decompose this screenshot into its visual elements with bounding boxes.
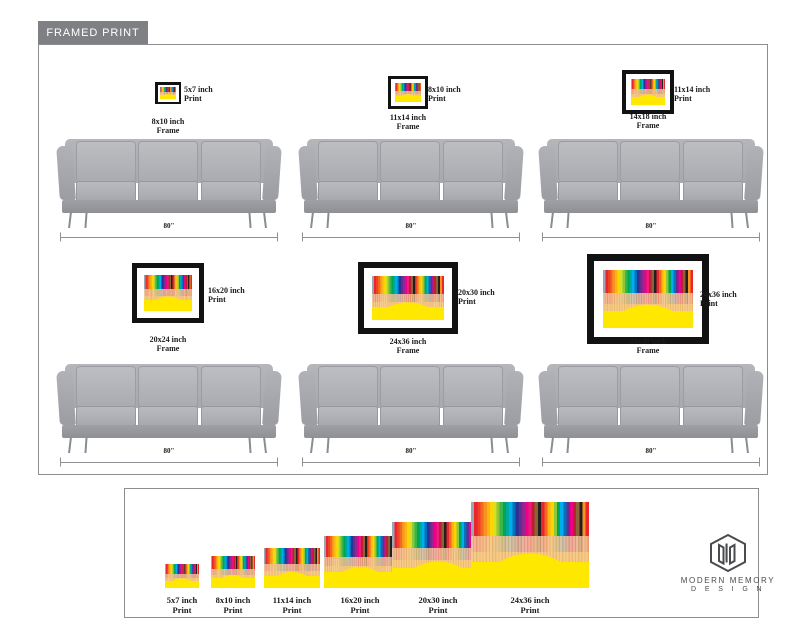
sofa-base (62, 200, 275, 212)
framed-print-2[interactable] (388, 76, 428, 109)
sofa-width-dimension: 80" (542, 456, 760, 468)
sofa-illustration (540, 358, 762, 454)
framed-print-6[interactable] (587, 254, 709, 344)
sofa-leg (745, 437, 749, 453)
frame-mat (626, 74, 670, 110)
yellow-arch-mask (144, 275, 192, 311)
sofa-back-cushion (76, 141, 136, 183)
print-size-label-4: 16x20 inchPrint (208, 286, 245, 305)
dimension-line (60, 462, 278, 463)
sofa-back-cushion (201, 141, 261, 183)
frame-size-label-4: 20x24 inchFrame (123, 335, 213, 354)
sofa-width-dimension: 80" (302, 456, 520, 468)
yellow-arch-mask (631, 79, 665, 105)
dimension-cap-right (759, 233, 760, 242)
sofa-arm-right (263, 146, 282, 200)
dimension-cap-left (302, 458, 303, 467)
frame-mat (364, 268, 452, 328)
dimension-cap-left (60, 233, 61, 242)
frame-mat (137, 268, 199, 318)
print-artwork-1 (160, 87, 176, 99)
dimension-cap-left (542, 458, 543, 467)
sofa-back-cushion (138, 141, 198, 183)
sofa-arm-right (505, 146, 524, 200)
framed-print-1[interactable] (155, 82, 181, 104)
sofa-width-dimension: 80" (60, 456, 278, 468)
sofa-leg (566, 437, 569, 453)
yellow-arch-mask (372, 276, 444, 320)
sofa-width-dimension: 80" (302, 231, 520, 243)
sofa-back-cushion (138, 366, 198, 408)
dimension-value: 80" (161, 222, 178, 230)
dimension-line (542, 237, 760, 238)
sofa-leg (310, 212, 314, 228)
print-artwork-3 (631, 79, 665, 105)
logo-brand-line2: D E S I G N (672, 586, 784, 593)
sofa-back-cushion (380, 366, 440, 408)
print-size-label-3: 11x14 inchPrint (674, 85, 710, 104)
sofa-base (62, 425, 275, 437)
print-artwork-2 (395, 83, 421, 102)
tab-framed-print[interactable]: FRAMED PRINT (38, 21, 148, 45)
sofa-arm-right (745, 146, 764, 200)
sofa-leg (248, 437, 251, 453)
yellow-arch-mask (471, 502, 589, 588)
frame-size-label-5: 24x36 inchFrame (363, 337, 453, 356)
sofa-leg (248, 212, 251, 228)
dimension-value: 80" (161, 447, 178, 455)
frame-size-label-6: 28x40 inchFrame (603, 337, 693, 356)
sofa-illustration (300, 358, 522, 454)
sofa-leg (566, 212, 569, 228)
sofa-illustration (300, 133, 522, 229)
dimension-cap-left (302, 233, 303, 242)
frame-mat (391, 79, 425, 106)
sofa-leg (263, 437, 267, 453)
print-only-artwork-6 (471, 502, 589, 588)
sofa-width-dimension: 80" (60, 231, 278, 243)
sofa-leg (68, 437, 72, 453)
print-artwork-5 (372, 276, 444, 320)
sofa-back-cushion (380, 141, 440, 183)
sofa-leg (550, 437, 554, 453)
sofa-leg (490, 212, 493, 228)
dimension-cap-right (759, 458, 760, 467)
sofa-base (304, 200, 517, 212)
dimension-value: 80" (643, 447, 660, 455)
print-artwork-6 (603, 270, 693, 328)
sofa-leg (745, 212, 749, 228)
print-only-label-5: 20x30 inchPrint (419, 596, 458, 616)
framed-print-4[interactable] (132, 263, 204, 323)
yellow-arch-mask (395, 83, 421, 102)
sofa-back-cushion (443, 141, 503, 183)
sofa-base (544, 200, 757, 212)
frame-size-label-2: 11x14 inchFrame (363, 113, 453, 132)
yellow-arch-mask (603, 270, 693, 328)
sofa-back-cushion (443, 366, 503, 408)
dimension-line (302, 462, 520, 463)
sofa-illustration (540, 133, 762, 229)
yellow-arch-mask (160, 87, 176, 99)
framed-print-5[interactable] (358, 262, 458, 334)
sofa-back-cushion (318, 366, 378, 408)
sofa-illustration (58, 133, 280, 229)
sofa-base (304, 425, 517, 437)
sofa-back-cushion (683, 366, 743, 408)
sofa-leg (730, 212, 733, 228)
dimension-cap-right (277, 233, 278, 242)
sofa-back-cushion (76, 366, 136, 408)
sofa-base (544, 425, 757, 437)
sofa-back-cushion (683, 141, 743, 183)
sofa-width-dimension: 80" (542, 231, 760, 243)
sofa-back-cushion (620, 141, 680, 183)
sofa-leg (326, 437, 329, 453)
print-only-label-4: 16x20 inchPrint (341, 596, 380, 616)
sofa-leg (730, 437, 733, 453)
dimension-cap-right (277, 458, 278, 467)
sofa-back-cushion (558, 366, 618, 408)
frame-mat (594, 261, 702, 337)
logo: MODERN MEMORY D E S I G N (672, 533, 784, 593)
frame-size-label-3: 14x18 inchFrame (603, 112, 693, 131)
sofa-back-cushion (201, 366, 261, 408)
dimension-cap-right (519, 233, 520, 242)
sofa-back-cushion (558, 141, 618, 183)
dimension-line (60, 237, 278, 238)
framed-print-3[interactable] (622, 70, 674, 114)
modern-memory-design-monogram-icon (706, 533, 750, 573)
print-only-label-6: 24x36 inchPrint (511, 596, 550, 616)
print-size-label-5: 20x30 inchPrint (458, 288, 495, 307)
sofa-leg (84, 212, 87, 228)
logo-brand-line1: MODERN MEMORY (672, 576, 784, 585)
sofa-leg (550, 212, 554, 228)
dimension-cap-right (519, 458, 520, 467)
print-size-label-2: 8x10 inchPrint (428, 85, 461, 104)
sofa-arm-right (505, 371, 524, 425)
dimension-line (302, 237, 520, 238)
sofa-back-cushion (620, 366, 680, 408)
sofa-arm-right (263, 371, 282, 425)
print-artwork-4 (144, 275, 192, 311)
sofa-back-cushion (318, 141, 378, 183)
sofa-leg (490, 437, 493, 453)
sofa-illustration (58, 358, 280, 454)
frame-mat (158, 85, 179, 102)
sofa-leg (68, 212, 72, 228)
dimension-cap-left (542, 233, 543, 242)
print-only-item-6[interactable]: 24x36 inchPrint (470, 488, 590, 618)
tab-framed-print-label: FRAMED PRINT (46, 27, 139, 39)
sofa-leg (84, 437, 87, 453)
sofa-leg (326, 212, 329, 228)
print-size-label-6: 24x36 inchPrint (700, 290, 737, 309)
sofa-leg (263, 212, 267, 228)
dimension-value: 80" (643, 222, 660, 230)
sofa-leg (310, 437, 314, 453)
dimension-value: 80" (403, 447, 420, 455)
dimension-line (542, 462, 760, 463)
dimension-cap-left (60, 458, 61, 467)
sofa-leg (505, 212, 509, 228)
dimension-value: 80" (403, 222, 420, 230)
sofa-arm-right (745, 371, 764, 425)
print-size-label-1: 5x7 inchPrint (184, 85, 213, 104)
sofa-leg (505, 437, 509, 453)
